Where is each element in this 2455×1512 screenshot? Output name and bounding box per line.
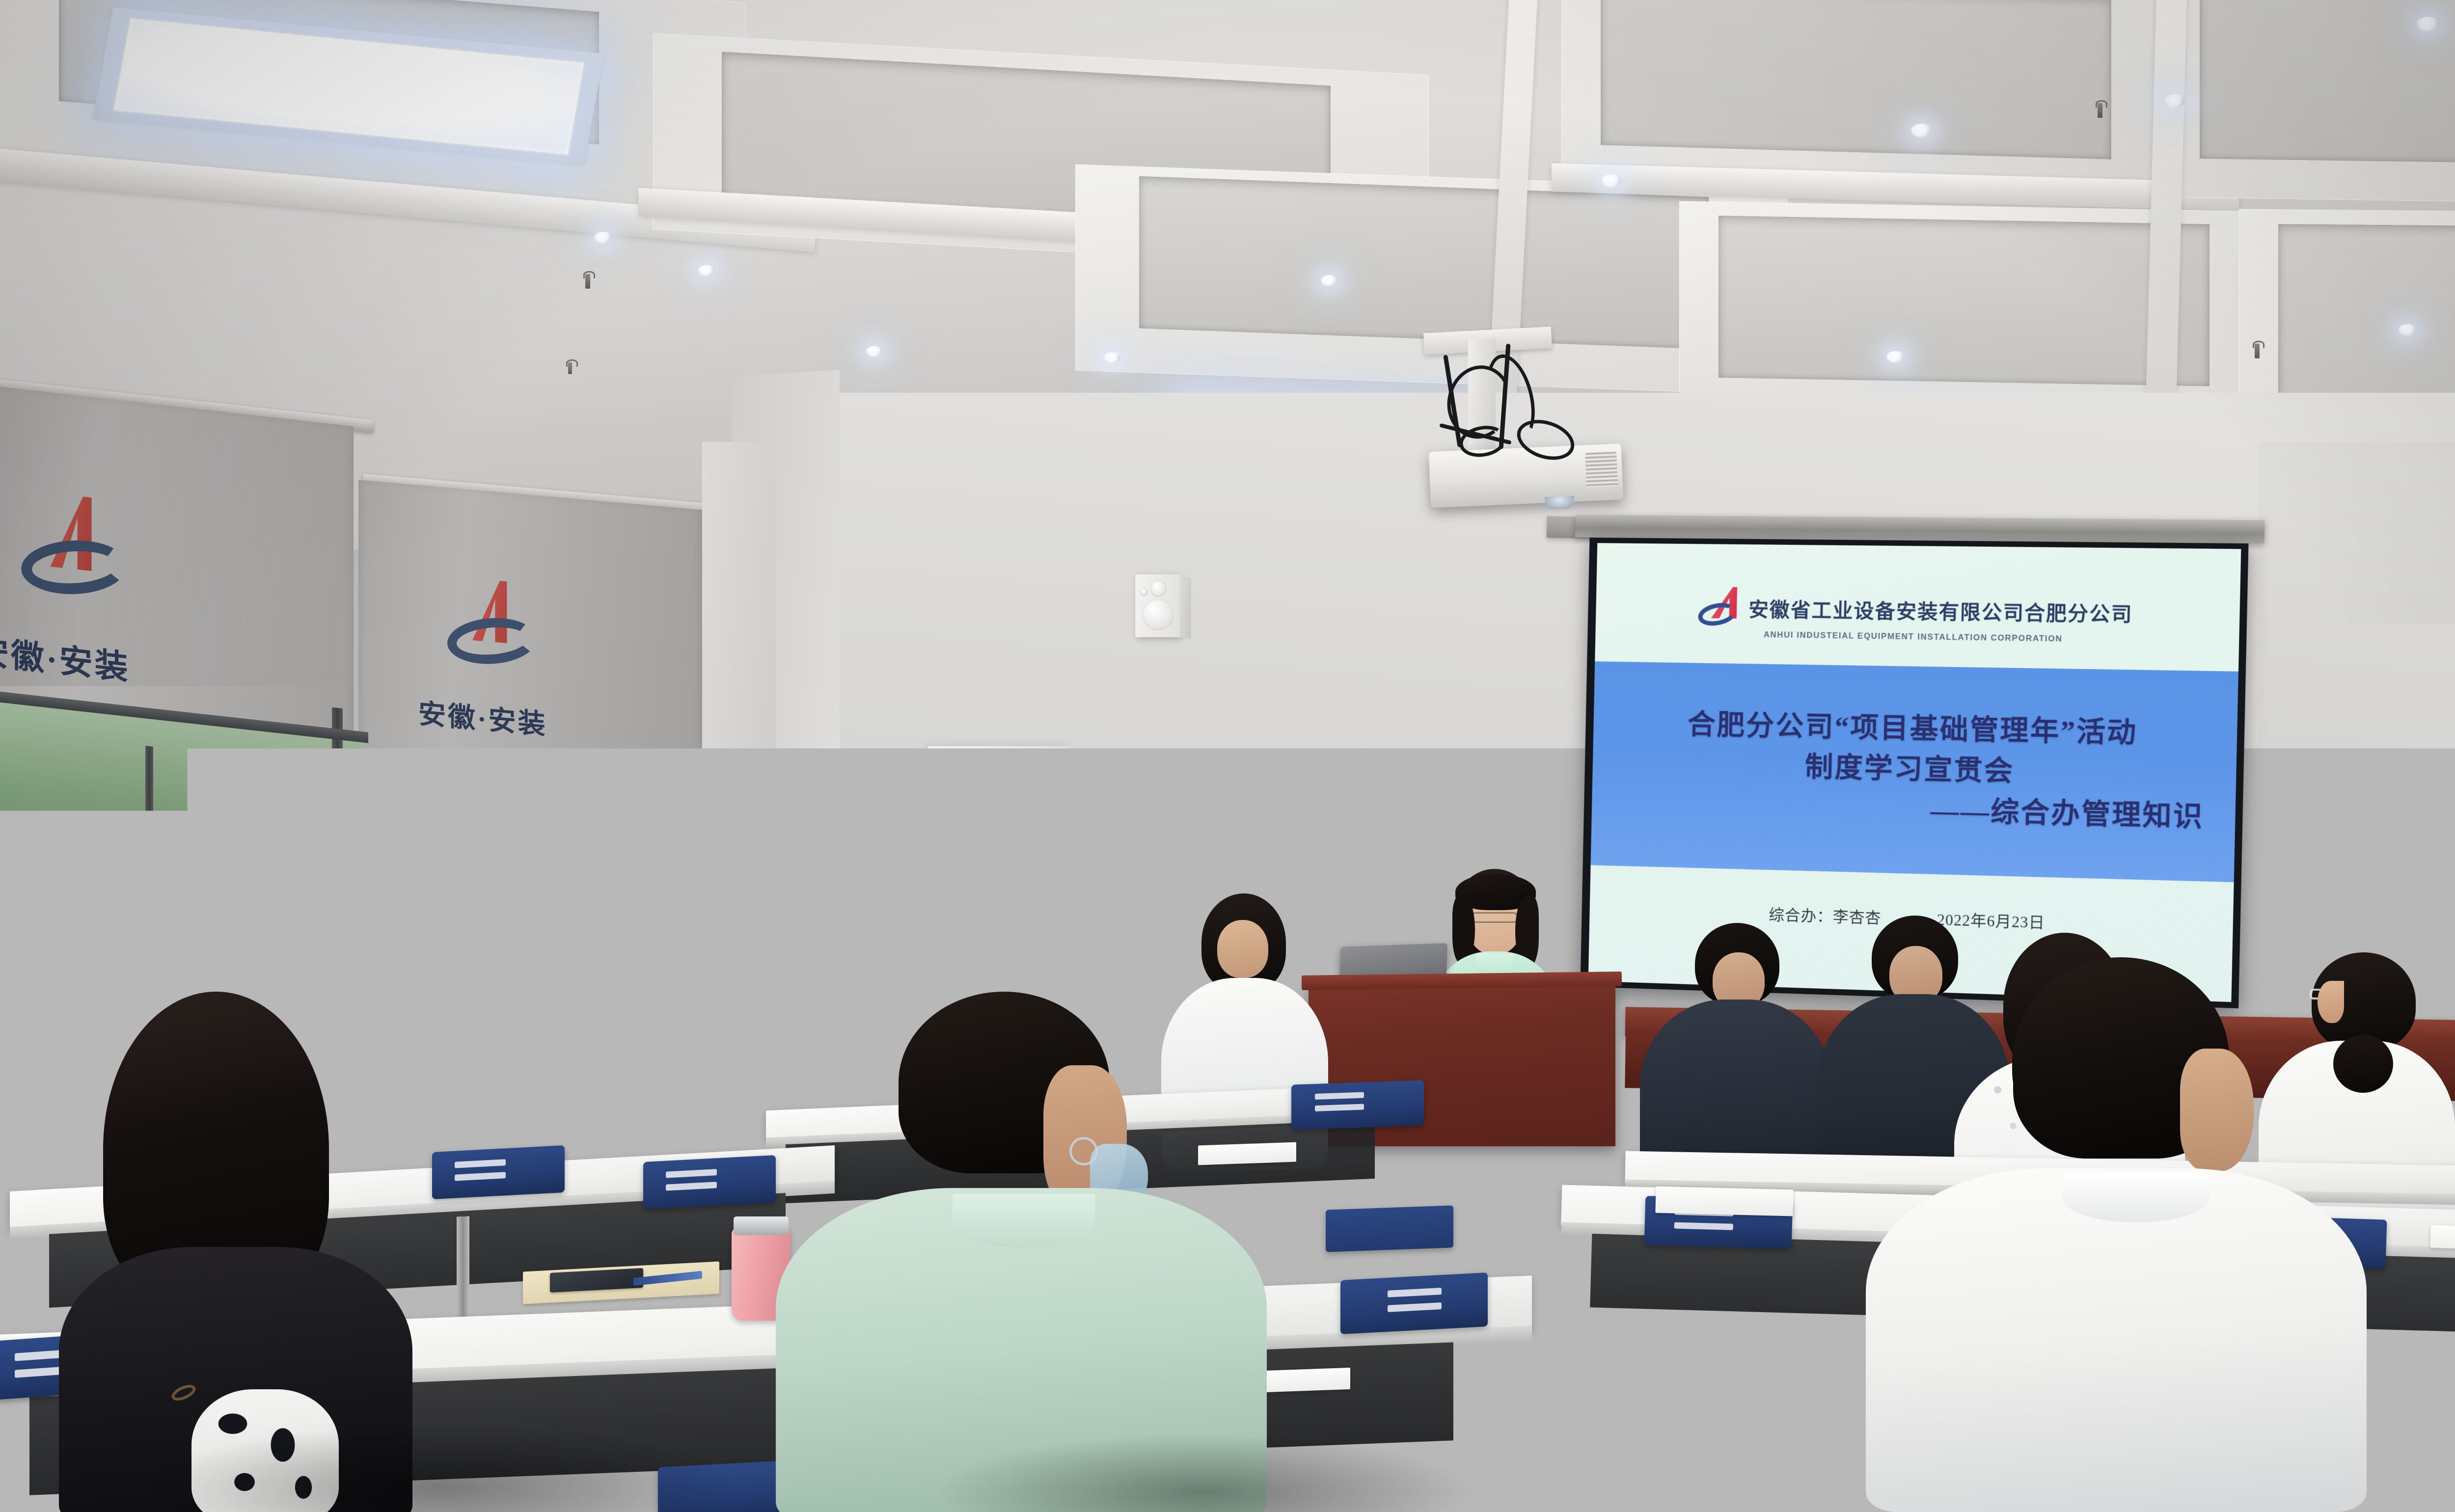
presenter-glasses [1471,912,1518,923]
downlight [2164,94,2185,108]
ceiling-hook [585,274,590,289]
pa-speaker [1135,574,1180,637]
slide-title-band: 合肥分公司“项目基础管理年”活动 制度学习宣贯会 ——综合办管理知识 [1591,661,2238,882]
downlight [1104,352,1120,363]
banner-logo-1 [20,490,133,605]
banner-logo-2 [447,576,540,673]
slide-header: 安徽省工业设备安装有限公司合肥分公司 ANHUI INDUSTEIAL EQUI… [1595,543,2241,671]
downlight [1321,275,1337,286]
downlight [698,265,714,276]
ac-louver-grille [937,757,1060,844]
mask-ear-loop [1069,1137,1098,1165]
chair[interactable] [432,1145,565,1199]
chair[interactable] [643,1155,776,1209]
downlight [594,232,612,243]
ceiling-hook [2098,103,2102,118]
attendee-right-foreground-white [1866,957,2367,1512]
downlight [1602,174,1621,188]
papers[interactable] [1655,1187,1793,1216]
slide-company-name-cn: 安徽省工业设备安装有限公司合肥分公司 [1748,594,2133,627]
shirt-collar [2062,1173,2209,1222]
chair[interactable] [1291,1080,1424,1130]
downlight [1886,351,1904,363]
chair[interactable] [1340,1272,1488,1334]
ceiling-hook [2255,344,2260,358]
ac-display-panel [971,869,1025,888]
downlight [2417,17,2439,31]
downlight [2399,324,2416,336]
ceiling-hook [568,362,572,374]
downlight [1911,124,1932,137]
downlight [866,346,882,357]
ac-brand-logo [975,857,1022,863]
polo-collar [953,1194,1095,1248]
company-logo-icon [1696,586,1738,630]
conference-room-photo: 安徽省工业设备安装有限公司合肥分公司 ANHUI INDUSTEIAL EQUI… [0,0,2455,1512]
window-mullion [520,805,529,1130]
projector [1429,444,1624,508]
chair-seat[interactable] [1326,1205,1453,1252]
